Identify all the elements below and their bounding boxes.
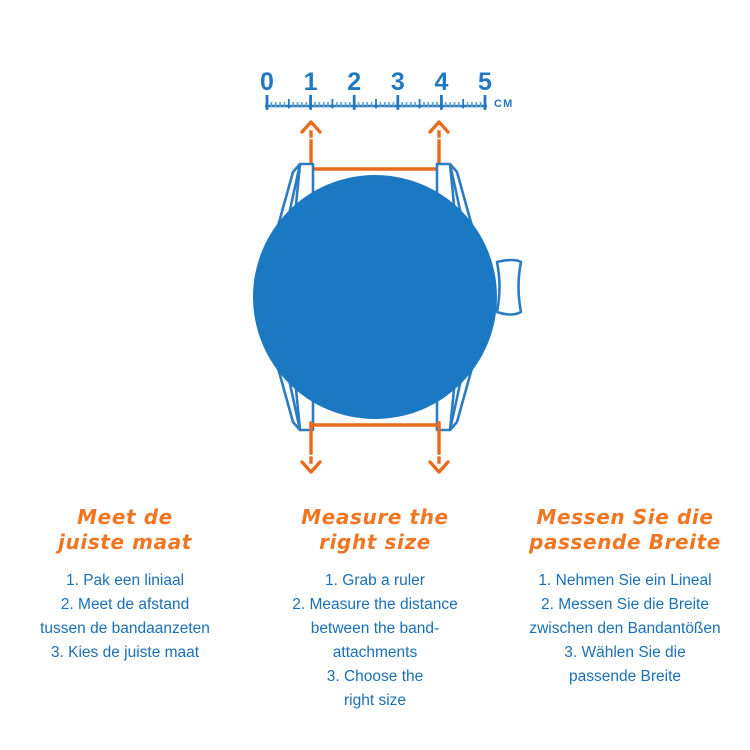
watch-measurement-diagram: 012345 CM (0, 0, 750, 500)
ruler-number-5: 5 (478, 68, 492, 97)
infographic-root: 012345 CM Meet dejuiste maat 1. Pak een … (0, 0, 750, 750)
instruction-step: 2. Messen Sie die Breite (506, 593, 744, 617)
instruction-step: 3. Choose the (256, 665, 494, 689)
instruction-step: 2. Meet de afstand (6, 593, 244, 617)
instruction-step: 1. Grab a ruler (256, 569, 494, 593)
column-heading-de: Messen Sie diepassende Breite (506, 505, 744, 555)
instruction-step: 3. Kies de juiste maat (6, 641, 244, 665)
instruction-step: 3. Wählen Sie die (506, 641, 744, 665)
instruction-step: 1. Nehmen Sie ein Lineal (506, 569, 744, 593)
heading-line: Meet de (6, 505, 244, 530)
ruler-number-2: 2 (347, 68, 361, 97)
watch-dial (253, 175, 497, 419)
instruction-step: attachments (256, 641, 494, 665)
watch-diagram-svg (0, 0, 750, 500)
instruction-column-nl: Meet dejuiste maat 1. Pak een liniaal2. … (0, 505, 250, 665)
instruction-step: right size (256, 689, 494, 713)
instruction-step: passende Breite (506, 665, 744, 689)
instruction-step: 1. Pak een liniaal (6, 569, 244, 593)
ruler-number-1: 1 (304, 68, 318, 97)
bottom-measure-bracket (302, 423, 448, 472)
column-heading-nl: Meet dejuiste maat (6, 505, 244, 555)
column-steps-de: 1. Nehmen Sie ein Lineal2. Messen Sie di… (506, 569, 744, 689)
heading-line: right size (256, 530, 494, 555)
ruler-ticks (267, 95, 485, 110)
top-measure-bracket (302, 122, 448, 171)
heading-line: Measure the (256, 505, 494, 530)
instruction-column-en: Measure theright size 1. Grab a ruler2. … (250, 505, 500, 713)
instruction-column-de: Messen Sie diepassende Breite 1. Nehmen … (500, 505, 750, 689)
ruler-number-3: 3 (391, 68, 405, 97)
instruction-step: tussen de bandaanzeten (6, 617, 244, 641)
instruction-columns: Meet dejuiste maat 1. Pak een liniaal2. … (0, 505, 750, 750)
ruler-number-4: 4 (434, 68, 448, 97)
instruction-step: between the band- (256, 617, 494, 641)
heading-line: Messen Sie die (506, 505, 744, 530)
heading-line: passende Breite (506, 530, 744, 555)
column-steps-nl: 1. Pak een liniaal2. Meet de afstandtuss… (6, 569, 244, 665)
column-heading-en: Measure theright size (256, 505, 494, 555)
instruction-step: 2. Measure the distance (256, 593, 494, 617)
watch-crown (497, 260, 521, 315)
heading-line: juiste maat (6, 530, 244, 555)
instruction-step: zwischen den Bandantößen (506, 617, 744, 641)
ruler-group (265, 95, 487, 110)
column-steps-en: 1. Grab a ruler2. Measure the distancebe… (256, 569, 494, 713)
ruler-unit-label: CM (494, 98, 514, 110)
ruler-number-0: 0 (260, 68, 274, 97)
